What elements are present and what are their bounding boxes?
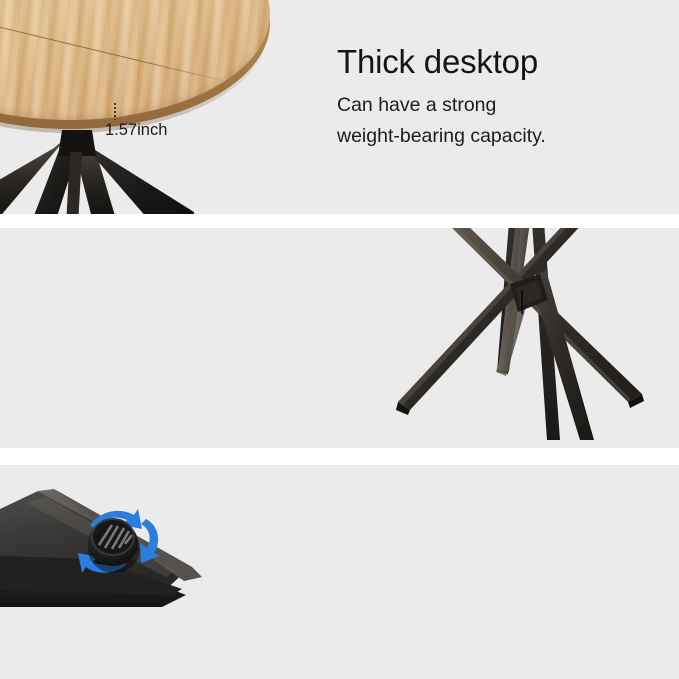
thick-desktop-heading: Thick desktop — [337, 43, 546, 81]
adjustable-foot-photo — [0, 467, 248, 607]
panel-stable-metal-legs: Stable metal legs Crossed metal legs mak… — [0, 228, 679, 448]
round-wood-tabletop-photo — [0, 0, 270, 140]
product-feature-infographic: 1.57inch Thick desktop Can have a strong… — [0, 0, 679, 679]
thick-desktop-body: Can have a strong weight-bearing capacit… — [337, 90, 546, 151]
thickness-dimension-label: 1.57inch — [105, 121, 167, 140]
thickness-dimension-marker — [114, 103, 116, 120]
thick-desktop-text-block: Thick desktop Can have a strong weight-b… — [337, 43, 546, 151]
body-line: weight-bearing capacity. — [337, 121, 546, 152]
panel-thick-desktop: 1.57inch Thick desktop Can have a strong… — [0, 0, 679, 214]
panel-divider — [0, 448, 679, 465]
crossed-metal-legs-photo — [380, 228, 679, 448]
panel-adjustable-feet: Adjustable feet The feet are adjustable,… — [0, 465, 679, 679]
panel-divider — [0, 214, 679, 228]
body-line: Can have a strong — [337, 90, 546, 121]
